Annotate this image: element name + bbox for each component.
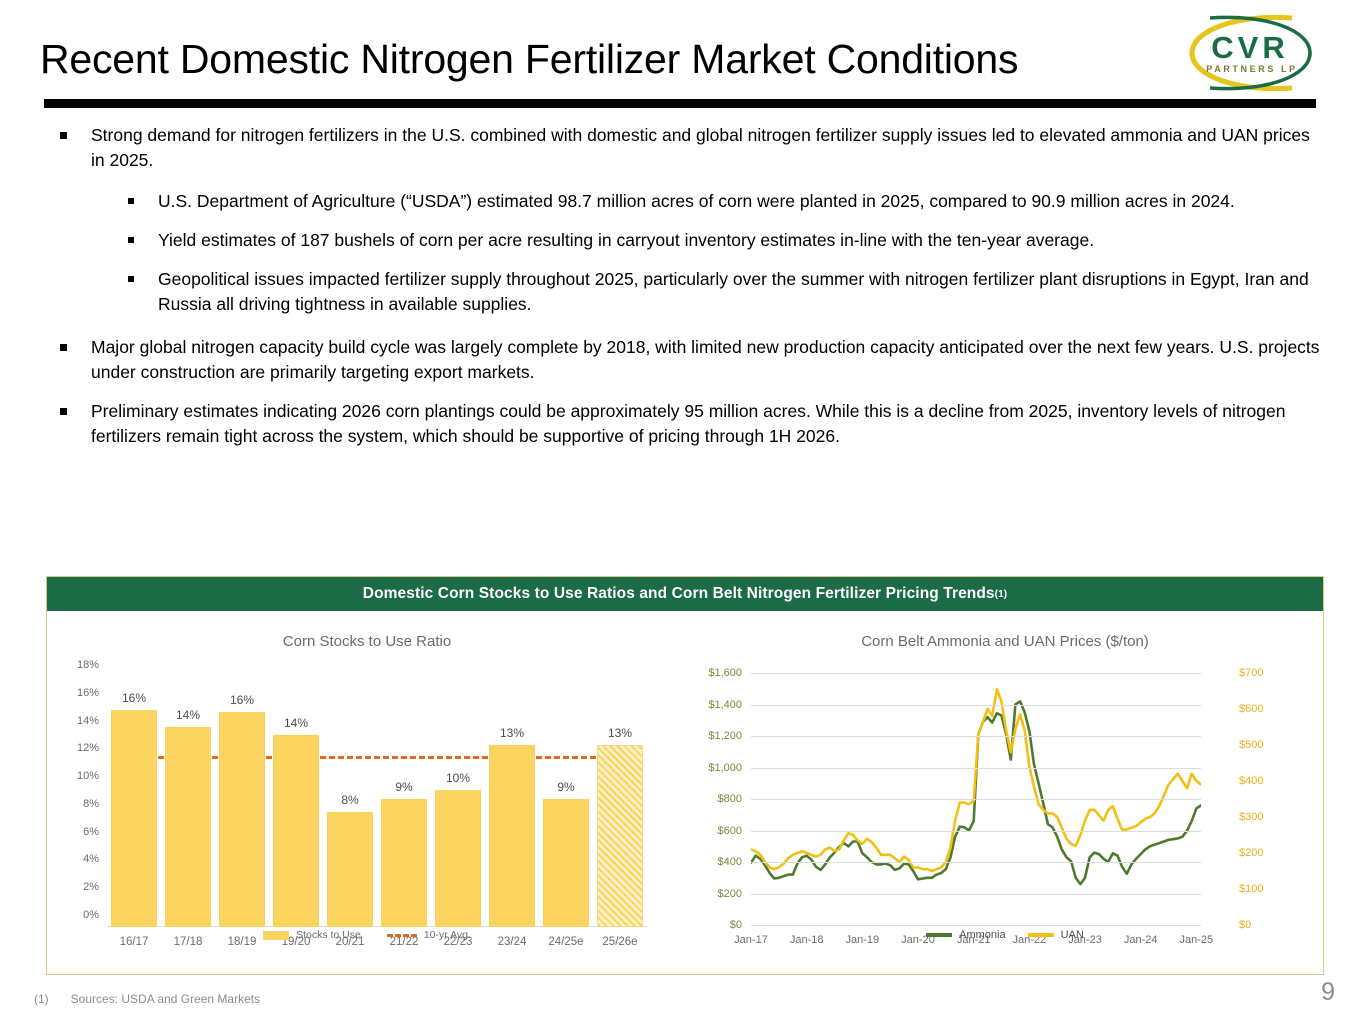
legend-item-ten-year-average: 10-yr Avg. <box>387 929 471 941</box>
legend-item-uan: UAN <box>1028 929 1084 941</box>
line-chart-gridline <box>751 894 1201 895</box>
legend-swatch-dashed-line-icon <box>387 934 417 937</box>
bullet-item: Yield estimates of 187 bushels of corn p… <box>128 228 1330 253</box>
corn-stocks-bar-chart: Corn Stocks to Use Ratio 0%2%4%6%8%10%12… <box>47 611 687 975</box>
bar-value-label: 10% <box>428 771 488 785</box>
footnote: (1) Sources: USDA and Green Markets <box>34 992 260 1006</box>
line-chart-title: Corn Belt Ammonia and UAN Prices ($/ton) <box>687 633 1323 650</box>
cvr-partners-logo: CVR PARTNERS LP <box>1180 12 1320 94</box>
line-chart-left-y-tick: $600 <box>718 825 742 837</box>
bullet-text: Strong demand for nitrogen fertilizers i… <box>91 123 1323 173</box>
bar-value-label: 13% <box>590 726 650 740</box>
bullet-text: Major global nitrogen capacity build cyc… <box>91 335 1323 385</box>
legend-item-ammonia: Ammonia <box>926 929 1005 941</box>
line-chart-right-y-tick: $600 <box>1239 703 1263 715</box>
line-chart-left-y-tick: $200 <box>718 888 742 900</box>
bar-chart-y-tick: 12% <box>77 742 99 754</box>
bar-chart-y-tick: 18% <box>77 659 99 671</box>
footnote-marker: (1) <box>34 992 49 1006</box>
bar-chart-y-tick: 10% <box>77 770 99 782</box>
bar-chart-y-tick: 14% <box>77 715 99 727</box>
line-chart-left-y-tick: $1,200 <box>708 730 742 742</box>
bullet-item: Strong demand for nitrogen fertilizers i… <box>60 123 1330 173</box>
footnote-text: Sources: USDA and Green Markets <box>71 992 260 1006</box>
bullet-marker-icon <box>60 408 67 415</box>
bullet-item: Major global nitrogen capacity build cyc… <box>60 335 1330 385</box>
bullet-item: Preliminary estimates indicating 2026 co… <box>60 399 1330 449</box>
line-chart-plot-area: $0$200$400$600$800$1,000$1,200$1,400$1,6… <box>751 673 1201 925</box>
line-chart-gridline <box>751 799 1201 800</box>
legend-item-stocks-to-use: Stocks to Use <box>263 929 361 941</box>
bar-chart-y-tick: 2% <box>83 881 99 893</box>
page-number: 9 <box>1321 978 1335 1007</box>
bar <box>489 745 535 927</box>
legend-label: UAN <box>1061 929 1084 941</box>
chart-panel-banner-text: Domestic Corn Stocks to Use Ratios and C… <box>363 585 995 603</box>
line-chart-right-y-tick: $700 <box>1239 667 1263 679</box>
bar-value-label: 8% <box>320 793 380 807</box>
line-chart-legend: Ammonia UAN <box>687 929 1323 941</box>
bar <box>543 799 589 927</box>
logo-tagline-text: PARTNERS LP <box>1206 64 1297 74</box>
bullet-text: Preliminary estimates indicating 2026 co… <box>91 399 1323 449</box>
chart-panel-banner-superscript: (1) <box>995 589 1008 600</box>
line-chart-gridline <box>751 925 1201 926</box>
chart-panel: Domestic Corn Stocks to Use Ratios and C… <box>46 576 1324 975</box>
line-chart-gridline <box>751 705 1201 706</box>
line-chart-right-y-tick: $500 <box>1239 739 1263 751</box>
bullet-marker-icon <box>128 237 134 243</box>
line-chart-left-y-tick: $800 <box>718 793 742 805</box>
bullet-marker-icon <box>128 198 134 204</box>
bar-chart-y-tick: 6% <box>83 826 99 838</box>
bar-chart-title: Corn Stocks to Use Ratio <box>47 633 687 650</box>
bullet-text: U.S. Department of Agriculture (“USDA”) … <box>158 189 1318 214</box>
line-chart-right-y-tick: $300 <box>1239 811 1263 823</box>
bullet-list: Strong demand for nitrogen fertilizers i… <box>40 123 1330 463</box>
line-chart-left-y-tick: $400 <box>718 856 742 868</box>
legend-label: Stocks to Use <box>296 929 361 941</box>
bar-chart-legend: Stocks to Use 10-yr Avg. <box>47 929 687 941</box>
bar <box>435 790 481 928</box>
line-chart-right-y-tick: $400 <box>1239 775 1263 787</box>
bullet-marker-icon <box>60 344 67 351</box>
logo-brand-text: CVR <box>1211 30 1288 65</box>
line-chart-left-y-tick: $1,000 <box>708 762 742 774</box>
bar <box>273 735 319 927</box>
line-chart-gridline <box>751 768 1201 769</box>
bar-value-label: 14% <box>158 708 218 722</box>
bar <box>327 812 373 927</box>
bar-value-label: 14% <box>266 716 326 730</box>
legend-label: 10-yr Avg. <box>424 929 471 941</box>
line-chart-gridline <box>751 831 1201 832</box>
bar <box>111 710 157 927</box>
bar <box>219 712 265 927</box>
line-chart-left-y-tick: $1,400 <box>708 699 742 711</box>
bullet-item: Geopolitical issues impacted fertilizer … <box>128 267 1330 317</box>
bullet-item: U.S. Department of Agriculture (“USDA”) … <box>128 189 1330 214</box>
page-title: Recent Domestic Nitrogen Fertilizer Mark… <box>40 36 1160 83</box>
legend-swatch-bar-icon <box>263 931 289 940</box>
bullet-marker-icon <box>128 276 134 282</box>
bar <box>165 727 211 927</box>
line-series-uan <box>751 689 1201 871</box>
ammonia-uan-price-line-chart: Corn Belt Ammonia and UAN Prices ($/ton)… <box>687 611 1323 975</box>
bar <box>597 745 643 927</box>
bar-chart-y-tick: 4% <box>83 853 99 865</box>
bullet-marker-icon <box>60 132 67 139</box>
line-chart-right-y-tick: $200 <box>1239 847 1263 859</box>
bar-value-label: 16% <box>104 691 164 705</box>
legend-label: Ammonia <box>959 929 1005 941</box>
bar-chart-plot-area: 0%2%4%6%8%10%12%14%16%18%16%16/1714%17/1… <box>107 677 647 927</box>
line-chart-gridline <box>751 673 1201 674</box>
line-chart-gridline <box>751 862 1201 863</box>
legend-swatch-uan-icon <box>1028 933 1054 937</box>
bar-chart-y-tick: 0% <box>83 909 99 921</box>
bullet-text: Geopolitical issues impacted fertilizer … <box>158 267 1318 317</box>
line-chart-left-y-tick: $1,600 <box>708 667 742 679</box>
bar-value-label: 9% <box>374 780 434 794</box>
bar-value-label: 9% <box>536 780 596 794</box>
line-chart-gridline <box>751 736 1201 737</box>
chart-panel-banner: Domestic Corn Stocks to Use Ratios and C… <box>47 577 1323 611</box>
title-underline-rule <box>44 99 1316 108</box>
bullet-text: Yield estimates of 187 bushels of corn p… <box>158 228 1318 253</box>
bar-chart-y-tick: 8% <box>83 798 99 810</box>
bar <box>381 799 427 927</box>
bar-value-label: 13% <box>482 726 542 740</box>
legend-swatch-ammonia-icon <box>926 933 952 937</box>
line-chart-right-y-tick: $100 <box>1239 883 1263 895</box>
bar-chart-y-tick: 16% <box>77 687 99 699</box>
bar-value-label: 16% <box>212 693 272 707</box>
